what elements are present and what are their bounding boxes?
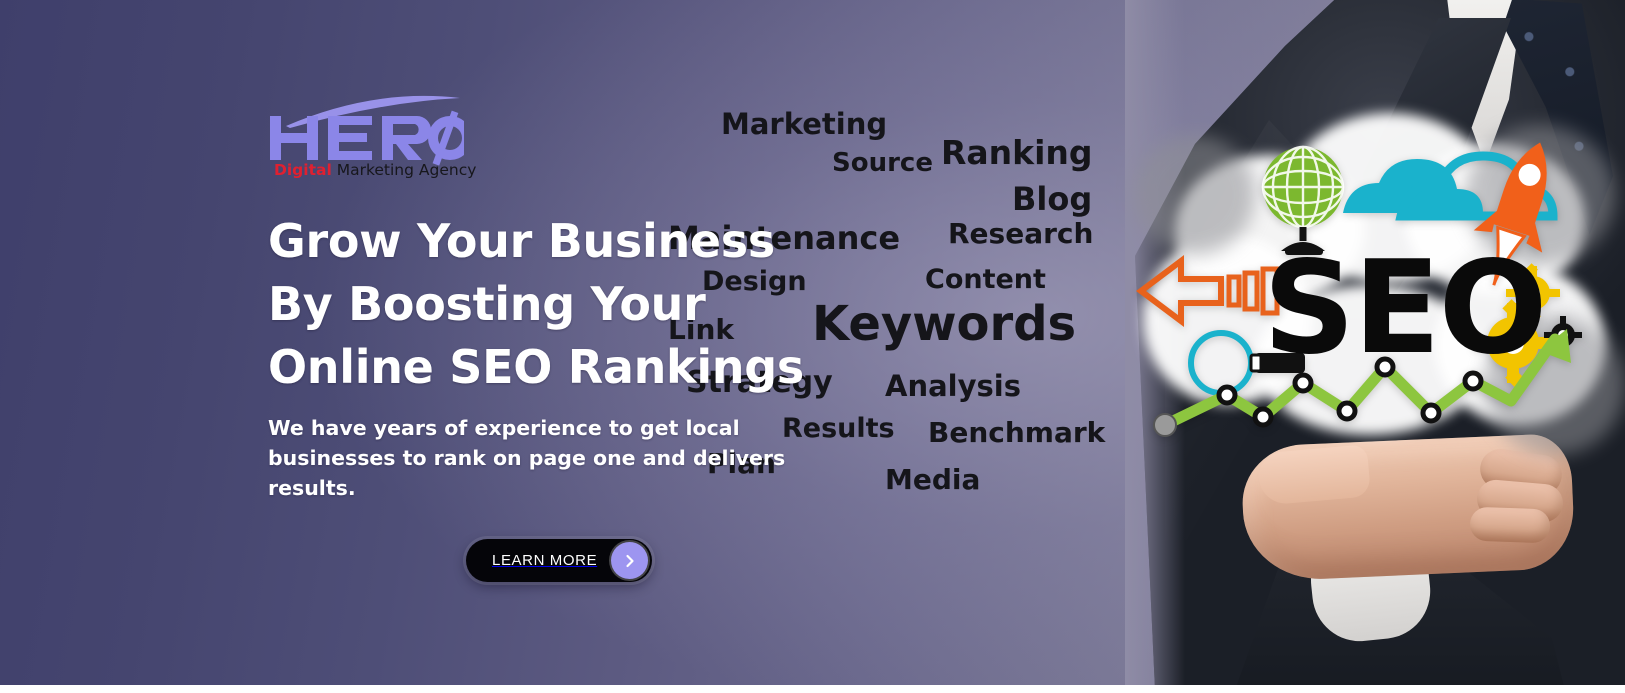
- brand-tagline-rest: Marketing Agency: [332, 161, 477, 179]
- hero-wordmark-icon: [268, 108, 464, 166]
- page-title: Grow Your BusinessBy Boosting YourOnline…: [268, 210, 828, 399]
- cta-container: LEARN MORE: [466, 539, 828, 582]
- brand-tagline: Digital Marketing Agency: [274, 162, 476, 178]
- hero-subtext: We have years of experience to get local…: [268, 413, 808, 503]
- hero-banner: MarketingSourceRankingBlogResearchMainte…: [0, 0, 1625, 685]
- keyword-cloud-word: Analysis: [885, 372, 1021, 401]
- keyword-cloud-word: Media: [885, 466, 980, 494]
- headline-line: Online SEO Rankings: [268, 336, 828, 399]
- bottom-white-strip: [0, 685, 1625, 693]
- seo-wordmark: SEO: [1263, 245, 1545, 373]
- keyword-cloud-word: Content: [925, 266, 1046, 293]
- chevron-right-icon[interactable]: [611, 542, 648, 579]
- brand-tagline-highlight: Digital: [274, 161, 332, 179]
- keyword-cloud-word: Benchmark: [928, 419, 1105, 447]
- learn-more-button[interactable]: LEARN MORE: [466, 539, 652, 582]
- hero-content: Digital Marketing Agency Grow Your Busin…: [268, 92, 828, 582]
- learn-more-label: LEARN MORE: [492, 552, 611, 569]
- seo-graphic: SEO: [1135, 95, 1605, 465]
- finger: [1469, 507, 1550, 544]
- brand-logo[interactable]: Digital Marketing Agency: [268, 92, 468, 177]
- keyword-cloud-word: Ranking: [941, 136, 1093, 169]
- headline-line: By Boosting Your: [268, 273, 828, 336]
- keyword-cloud-word: Keywords: [812, 300, 1076, 348]
- headline-line: Grow Your Business: [268, 210, 828, 273]
- keyword-cloud-word: Research: [948, 220, 1093, 248]
- keyword-cloud-word: Source: [832, 150, 933, 176]
- keyword-cloud-word: Blog: [1012, 183, 1092, 215]
- left-arrow-icon: [1141, 261, 1277, 321]
